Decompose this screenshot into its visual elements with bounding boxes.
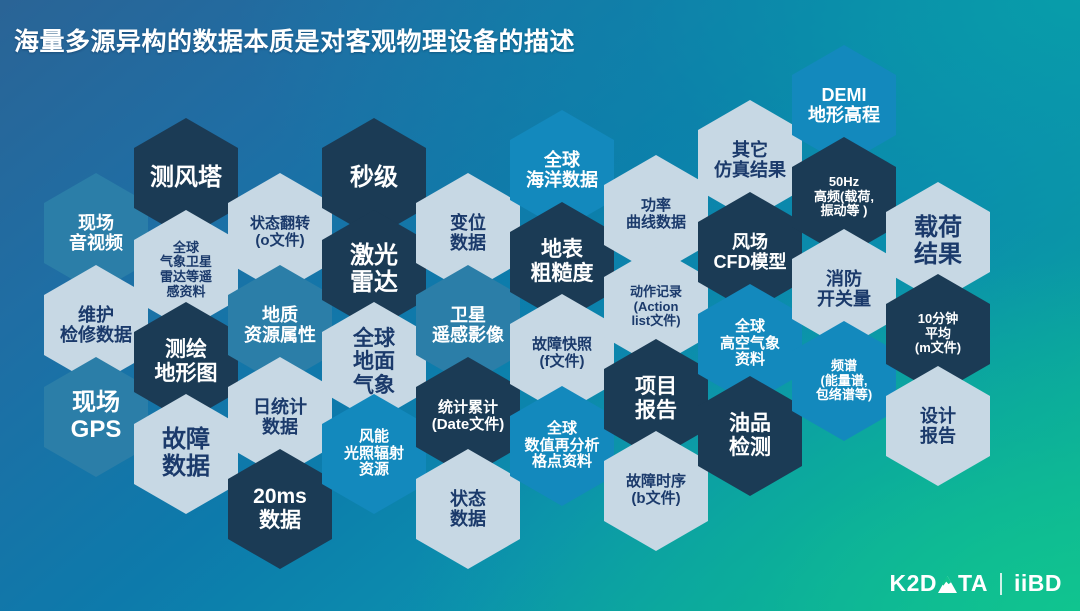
- hex-pinpu[interactable]: 频谱(能量谱,包络谱等): [792, 321, 896, 441]
- hex-youpin-jiance[interactable]: 油品检测: [698, 376, 802, 496]
- hex-fengneng-guangzhao[interactable]: 风能光照辐射资源: [322, 394, 426, 514]
- hex-label: 激光雷达: [327, 243, 421, 297]
- mountain-icon: [938, 572, 957, 599]
- hex-label: 故障数据: [139, 427, 233, 481]
- hex-xianchang-gps[interactable]: 现场GPS: [44, 357, 148, 477]
- hex-guzhang-shuju[interactable]: 故障数据: [134, 394, 238, 514]
- hex-label: 消防开关量: [797, 269, 891, 309]
- hex-label: 设计报告: [891, 406, 985, 446]
- hex-label: 动作记录(Actionlist文件): [609, 285, 703, 329]
- hex-label: 20ms数据: [233, 485, 327, 532]
- k2data-wordmark: K2DTA: [890, 570, 988, 597]
- hex-zhuangtai-shuju[interactable]: 状态数据: [416, 449, 520, 569]
- hex-label: 现场GPS: [49, 390, 143, 444]
- hex-label: 油品检测: [703, 412, 797, 459]
- k2data-text-tail: TA: [958, 570, 988, 597]
- hex-label: 地质资源属性: [233, 305, 327, 345]
- hex-label: 测风塔: [139, 165, 233, 192]
- hex-sheji-baogao[interactable]: 设计报告: [886, 366, 990, 486]
- hex-label: 统计累计(Date文件): [421, 400, 515, 434]
- k2data-text-lead: K2D: [890, 570, 938, 597]
- hex-label: DEMI地形高程: [797, 85, 891, 125]
- brand-logo: K2DTA iiBD: [890, 570, 1062, 597]
- hex-label: 维护检修数据: [49, 305, 143, 345]
- hex-label: 故障快照(f文件): [515, 337, 609, 371]
- hex-label: 频谱(能量谱,包络谱等): [797, 359, 891, 403]
- hex-label: 全球数值再分析格点资料: [515, 421, 609, 471]
- hex-label: 全球高空气象资料: [703, 319, 797, 369]
- hex-label: 全球海洋数据: [515, 150, 609, 190]
- hex-label: 载荷结果: [891, 215, 985, 269]
- hex-label: 地表粗糙度: [515, 238, 609, 285]
- hex-label: 全球地面气象: [327, 327, 421, 398]
- hex-label: 卫星遥感影像: [421, 305, 515, 345]
- hex-label: 状态数据: [421, 489, 515, 529]
- hex-label: 秒级: [327, 165, 421, 192]
- hex-label: 10分钟平均(m文件): [891, 312, 985, 356]
- hex-20ms-shuju[interactable]: 20ms数据: [228, 449, 332, 569]
- hex-label: 测绘地形图: [139, 338, 233, 385]
- hex-label: 变位数据: [421, 213, 515, 253]
- hex-label: 50Hz高频(载荷,振动等 ): [797, 175, 891, 219]
- hex-label: 日统计数据: [233, 397, 327, 437]
- hex-label: 其它仿真结果: [703, 140, 797, 180]
- logo-divider: [1000, 573, 1002, 595]
- iibd-wordmark: iiBD: [1014, 570, 1062, 597]
- hex-label: 风能光照辐射资源: [327, 429, 421, 479]
- hex-label: 风场CFD模型: [703, 232, 797, 272]
- hex-label: 全球气象卫星雷达等遥感资料: [139, 241, 233, 299]
- hex-label: 现场音视频: [49, 213, 143, 253]
- hex-label: 功率曲线数据: [609, 198, 703, 232]
- hexagon-diagram: 现场音视频测风塔维护检修数据全球气象卫星雷达等遥感资料现场GPS测绘地形图故障数…: [0, 0, 1080, 611]
- hex-quanqiu-shuzhi[interactable]: 全球数值再分析格点资料: [510, 386, 614, 506]
- hex-label: 状态翻转(o文件): [233, 216, 327, 250]
- hex-label: 故障时序(b文件): [609, 474, 703, 508]
- hex-label: 项目报告: [609, 375, 703, 422]
- hex-guzhang-shixu[interactable]: 故障时序(b文件): [604, 431, 708, 551]
